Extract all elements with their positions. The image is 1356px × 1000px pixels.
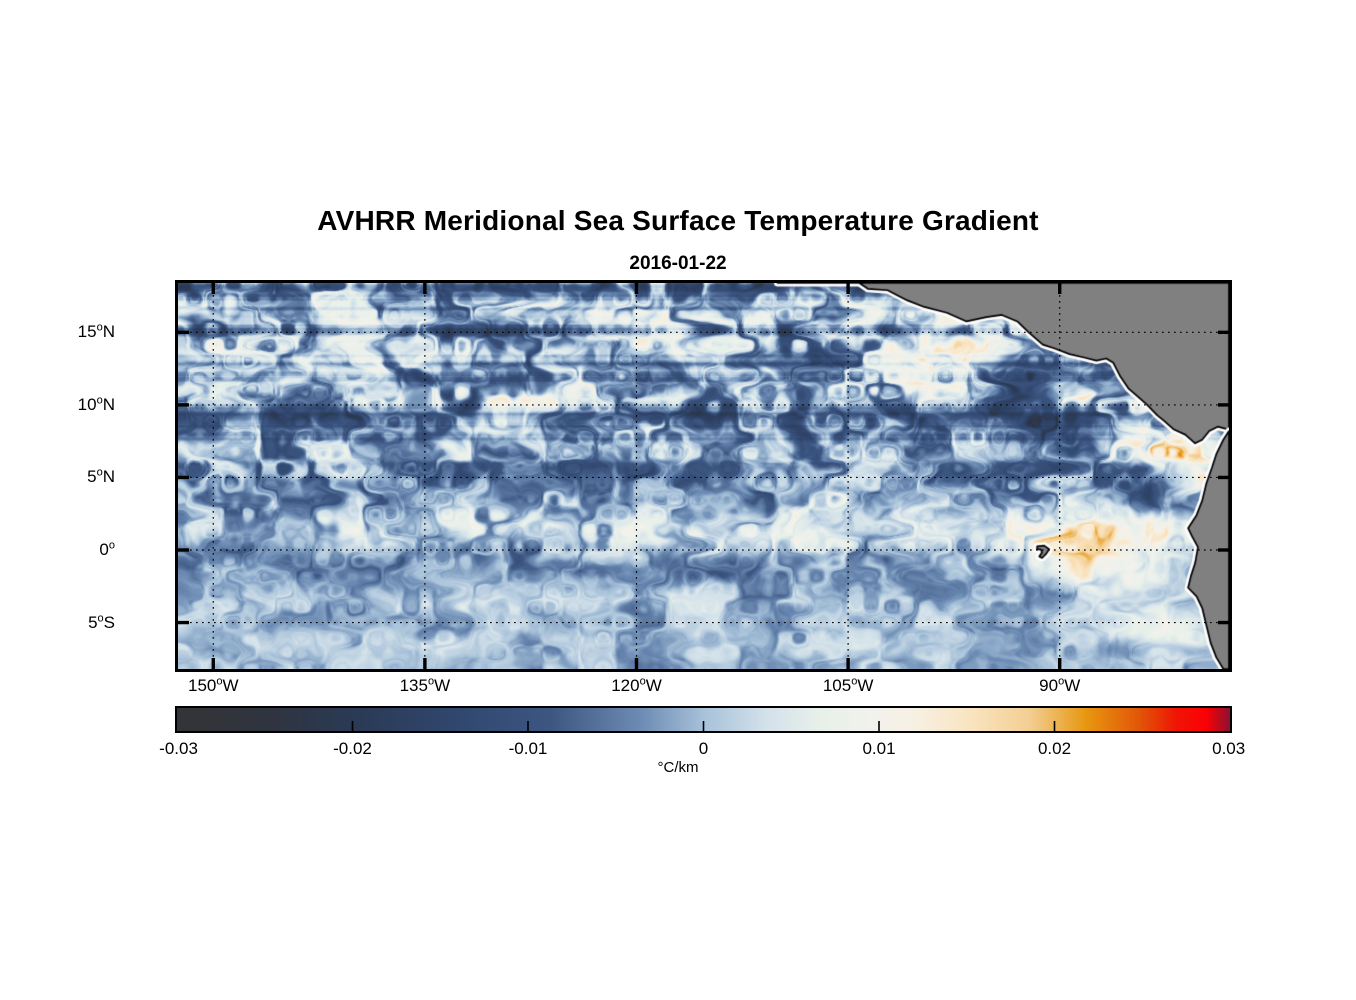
colorbar-tick-label-2: -0.01 [509,739,548,759]
x-tick-label-1: 135oW [400,676,451,696]
figure-subtitle: 2016-01-22 [0,253,1356,275]
x-tick-label-3: 105oW [823,676,874,696]
x-tick-label-4: 90oW [1039,676,1080,696]
y-tick-label-4: 5oS [88,613,115,633]
colorbar-tick-label-1: -0.02 [333,739,372,759]
y-tick-label-0: 15oN [78,322,115,342]
x-tick-label-2: 120oW [611,676,662,696]
y-tick-label-3: 0o [99,540,115,560]
x-tick-label-0: 150oW [188,676,239,696]
figure-canvas: AVHRR Meridional Sea Surface Temperature… [0,0,1356,1000]
colorbar-unit-label: °C/km [0,759,1356,776]
colorbar [175,706,1232,733]
colorbar-tick-label-0: -0.03 [159,739,198,759]
colorbar-tick-label-3: 0 [699,739,708,759]
colorbar-tick-label-4: 0.01 [862,739,895,759]
y-tick-label-2: 5oN [87,467,115,487]
figure-title: AVHRR Meridional Sea Surface Temperature… [0,205,1356,237]
sst-gradient-heatmap [178,283,1229,669]
y-tick-label-1: 10oN [78,395,115,415]
map-axes [175,280,1232,672]
colorbar-tick-label-6: 0.03 [1212,739,1245,759]
colorbar-tick-label-5: 0.02 [1038,739,1071,759]
colorbar-tick-marks [177,708,1230,731]
